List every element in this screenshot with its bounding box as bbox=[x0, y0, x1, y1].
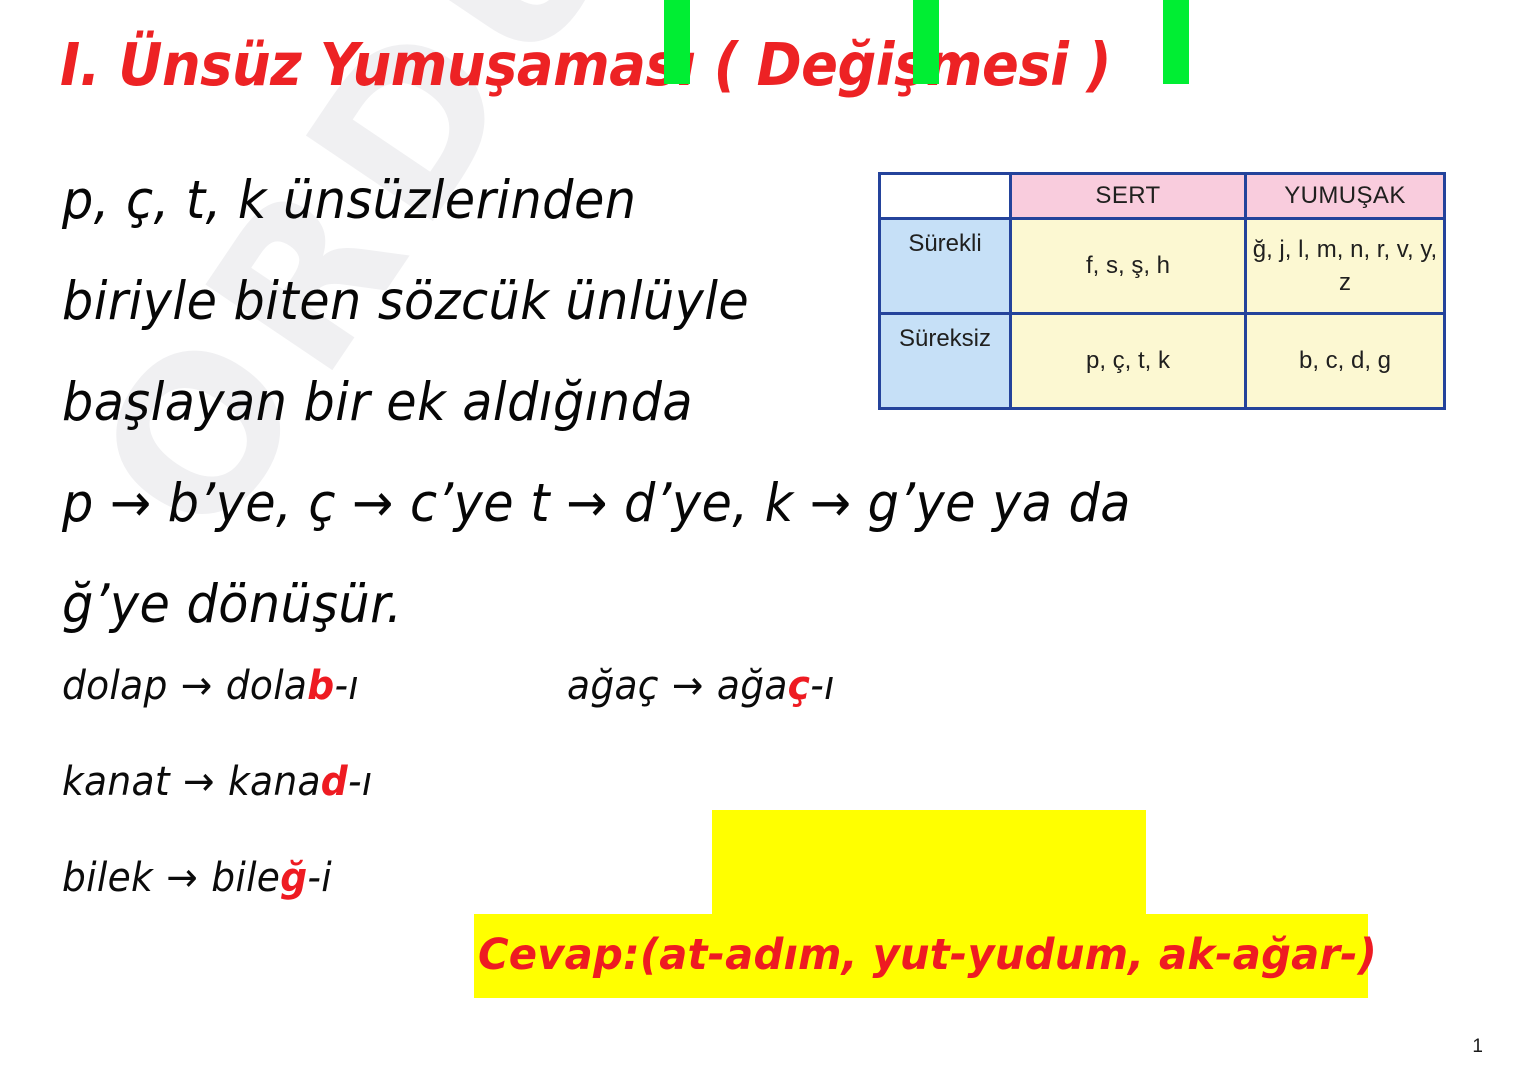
example-changed-letter: ğ bbox=[280, 855, 307, 901]
example-agac: ağaç→ağaç-ı bbox=[567, 660, 835, 712]
table-corner-blank bbox=[880, 174, 1011, 219]
rule-line-5: ğ’ye dönüşür. bbox=[62, 554, 1383, 655]
green-marker-bar-3 bbox=[1163, 0, 1189, 84]
cell-surekli-yumusak: ğ, j, l, m, n, r, v, y, z bbox=[1246, 219, 1445, 314]
example-changed-letter: d bbox=[321, 759, 348, 805]
example-result-prefix: bile bbox=[211, 855, 280, 901]
example-base: dolap bbox=[62, 663, 168, 709]
arrow-icon: → bbox=[168, 663, 226, 709]
consonant-table-wrapper: SERT YUMUŞAK Sürekli f, s, ş, h ğ, j, l,… bbox=[878, 172, 1434, 384]
arrow-icon: → bbox=[170, 759, 228, 805]
example-result-prefix: dola bbox=[226, 663, 308, 709]
example-dolap: dolap→dolab-ı bbox=[62, 660, 359, 712]
example-bilek: bilek→bileğ-i bbox=[62, 852, 332, 904]
column-header-yumusak: YUMUŞAK bbox=[1246, 174, 1445, 219]
example-result-suffix: -ı bbox=[810, 663, 835, 709]
table-header-row: SERT YUMUŞAK bbox=[880, 174, 1445, 219]
example-changed-letter: b bbox=[307, 663, 334, 709]
column-header-sert: SERT bbox=[1011, 174, 1246, 219]
cell-sureksiz-yumusak: b, c, d, g bbox=[1246, 314, 1445, 409]
example-result-prefix: ağa bbox=[717, 663, 788, 709]
arrow-icon: → bbox=[153, 855, 211, 901]
page-number: 1 bbox=[1472, 1036, 1483, 1058]
example-result-suffix: -ı bbox=[348, 759, 373, 805]
table-row: Sürekli f, s, ş, h ğ, j, l, m, n, r, v, … bbox=[880, 219, 1445, 314]
slide-canvas: ORDU ÖDM I. Ünsüz Yumuşaması ( Değişmesi… bbox=[0, 0, 1527, 1080]
examples-list: dolap→dolab-ı ağaç→ağaç-ı kanat→kanad-ı … bbox=[62, 660, 1062, 948]
arrow-icon: → bbox=[659, 663, 717, 709]
example-row: kanat→kanad-ı bbox=[62, 756, 1062, 852]
example-base: kanat bbox=[62, 759, 170, 805]
consonant-table: SERT YUMUŞAK Sürekli f, s, ş, h ğ, j, l,… bbox=[878, 172, 1446, 410]
rule-line-4: p → b’ye, ç → c’ye t → d’ye, k → g’ye ya… bbox=[62, 453, 1383, 554]
cell-sureksiz-sert: p, ç, t, k bbox=[1011, 314, 1246, 409]
green-marker-bar-1 bbox=[664, 0, 690, 84]
table-row: Süreksiz p, ç, t, k b, c, d, g bbox=[880, 314, 1445, 409]
example-row: dolap→dolab-ı ağaç→ağaç-ı bbox=[62, 660, 1062, 756]
example-result-suffix: -ı bbox=[334, 663, 359, 709]
quiz-answer-text: Cevap:(at-adım, yut-yudum, ak-ağar-) bbox=[478, 923, 1377, 987]
example-changed-letter: ç bbox=[788, 663, 811, 709]
row-label-sureksiz: Süreksiz bbox=[880, 314, 1011, 409]
page-title: I. Ünsüz Yumuşaması ( Değişmesi ) bbox=[60, 34, 1111, 96]
example-base: ağaç bbox=[567, 663, 659, 709]
row-label-surekli: Sürekli bbox=[880, 219, 1011, 314]
cell-surekli-sert: f, s, ş, h bbox=[1011, 219, 1246, 314]
example-result-prefix: kana bbox=[228, 759, 321, 805]
example-base: bilek bbox=[62, 855, 153, 901]
green-marker-bar-2 bbox=[913, 0, 939, 84]
example-kanat: kanat→kanad-ı bbox=[62, 756, 373, 808]
example-result-suffix: -i bbox=[307, 855, 332, 901]
